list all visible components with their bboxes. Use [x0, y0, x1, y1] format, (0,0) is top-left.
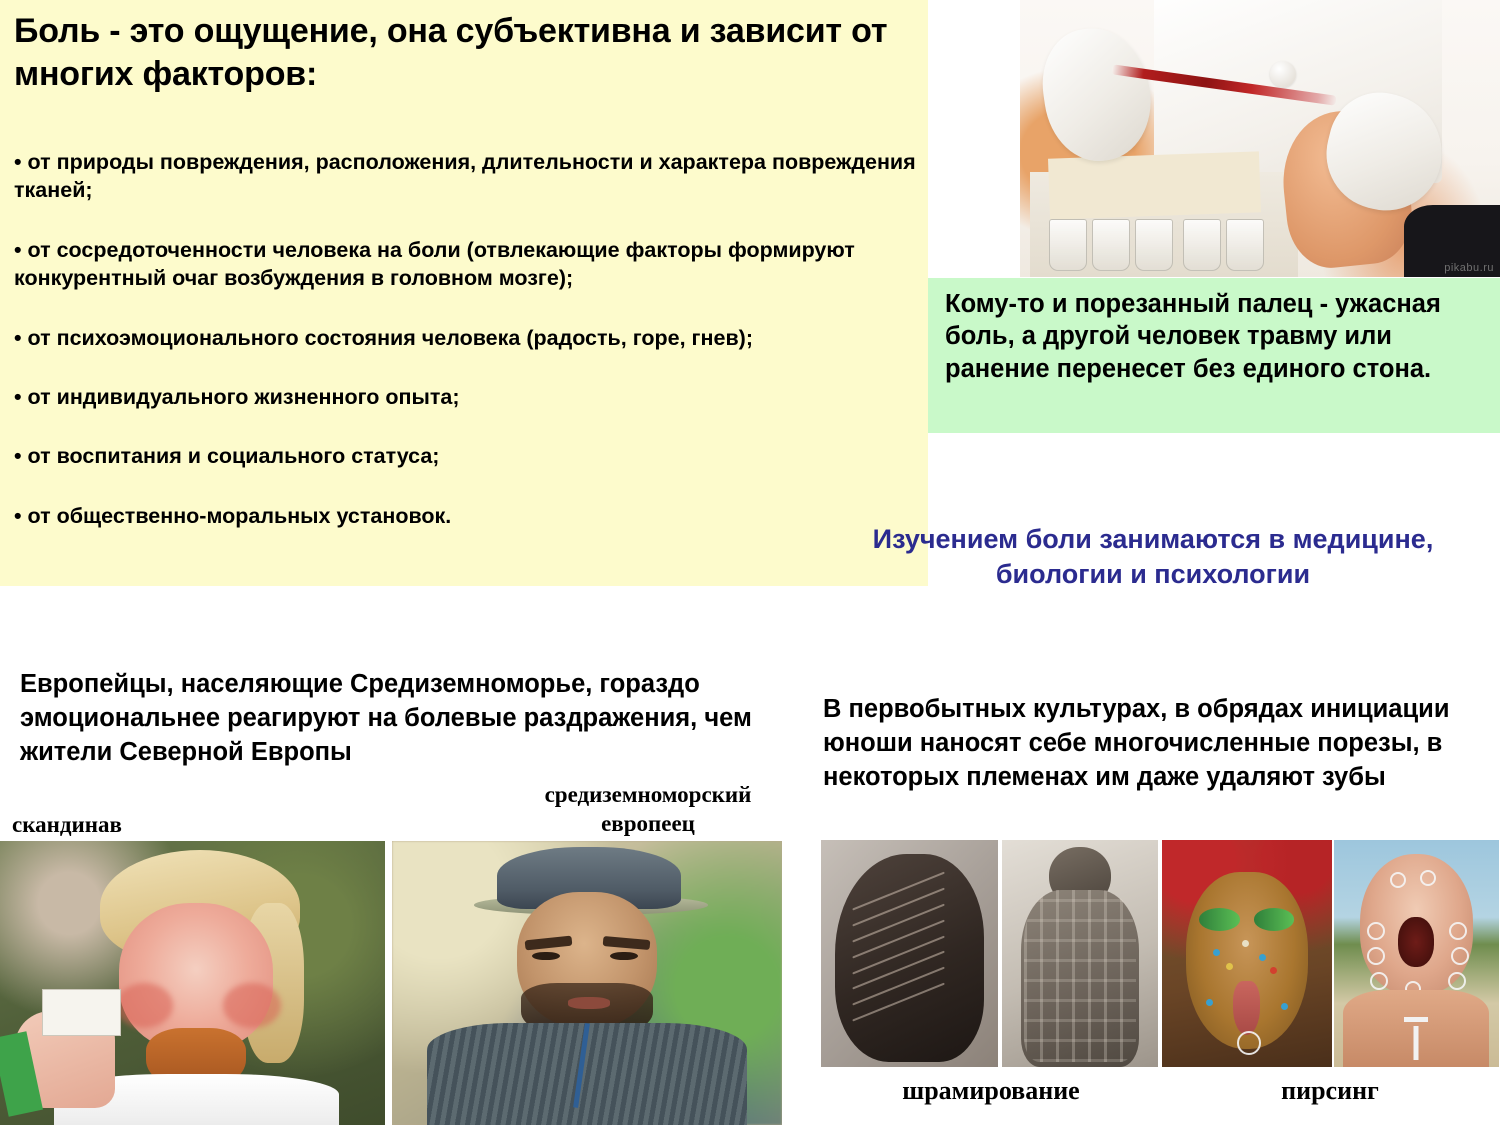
open-mouth	[1398, 917, 1434, 967]
photo-pierced-face-rings	[1334, 840, 1500, 1067]
piercing-bead	[1259, 954, 1266, 961]
factor-item: • от воспитания и социального статуса;	[14, 442, 916, 470]
green-face-paint	[1199, 908, 1240, 931]
factor-item: • от индивидуального жизненного опыта;	[14, 383, 916, 411]
caption-mediterranean-european: средиземноморский европеец	[513, 780, 783, 839]
factor-item: • от природы повреждения, расположения, …	[14, 148, 916, 205]
eye	[532, 952, 559, 961]
factor-item: • от психоэмоционального состояния челов…	[14, 324, 916, 352]
photo-scarified-back	[1002, 840, 1158, 1067]
green-callout-text: Кому-то и порезанный палец - ужасная бол…	[945, 288, 1485, 385]
ritual-captions-row: шрамирование пирсинг	[821, 1076, 1499, 1106]
caption-scarification: шрамирование	[821, 1076, 1161, 1106]
photo-watermark: pikabu.ru	[1444, 262, 1494, 274]
photo-scandinavian-man	[0, 841, 385, 1125]
yellow-content-panel: Боль - это ощущение, она субъективна и з…	[0, 0, 928, 586]
test-vial	[1183, 219, 1221, 271]
piercing-ring	[1420, 870, 1436, 886]
cross-pendant-vertical	[1414, 1026, 1419, 1060]
factors-list: • от природы повреждения, расположения, …	[14, 148, 916, 561]
piercing-ring	[1367, 947, 1385, 965]
ritual-photo-strip	[821, 840, 1499, 1067]
piercing-bead	[1206, 999, 1213, 1006]
piercing-bead	[1242, 940, 1249, 947]
caption-piercing: пирсинг	[1161, 1076, 1499, 1106]
eye	[610, 952, 637, 961]
factor-item: • от общественно-моральных установок.	[14, 502, 916, 530]
test-vial	[1135, 219, 1173, 271]
scarification-pattern	[1024, 890, 1136, 1063]
test-vial	[1049, 219, 1087, 271]
id-card	[42, 989, 121, 1036]
piercing-ring	[1448, 972, 1466, 990]
test-vial	[1092, 219, 1130, 271]
slide-title: Боль - это ощущение, она субъективна и з…	[14, 10, 914, 95]
factor-item: • от сосредоточенности человека на боли …	[14, 236, 916, 293]
primitive-cultures-statement: В первобытных культурах, в обрядах иници…	[823, 693, 1453, 795]
presentation-slide: Боль - это ощущение, она субъективна и з…	[0, 0, 1500, 1125]
lab-form-paper	[1048, 151, 1261, 219]
piercing-ring	[1237, 1031, 1261, 1055]
photo-mediterranean-man	[392, 841, 782, 1125]
green-callout-box: Кому-то и порезанный палец - ужасная бол…	[928, 278, 1500, 433]
green-face-paint	[1254, 908, 1295, 931]
photo-blood-test: pikabu.ru	[1020, 0, 1500, 277]
piercing-bead	[1213, 949, 1220, 956]
piercing-ring	[1449, 922, 1467, 940]
piercing-ring	[1390, 872, 1406, 888]
piercing-bead	[1226, 963, 1233, 970]
mediterranean-statement: Европейцы, населяющие Средиземноморье, г…	[20, 668, 780, 770]
photo-pierced-face-ornate	[1162, 840, 1332, 1067]
piercing-ring	[1367, 922, 1385, 940]
blue-heading: Изучением боли занимаются в медицине, би…	[848, 522, 1458, 592]
caption-scandinavian: скандинав	[12, 812, 122, 838]
test-vial	[1226, 219, 1264, 271]
cross-pendant-horizontal	[1404, 1017, 1428, 1022]
piercing-ring	[1451, 947, 1469, 965]
lips	[568, 997, 611, 1008]
coat-button	[1270, 61, 1296, 87]
photo-scarified-face	[821, 840, 998, 1067]
piercing-ring	[1370, 972, 1388, 990]
